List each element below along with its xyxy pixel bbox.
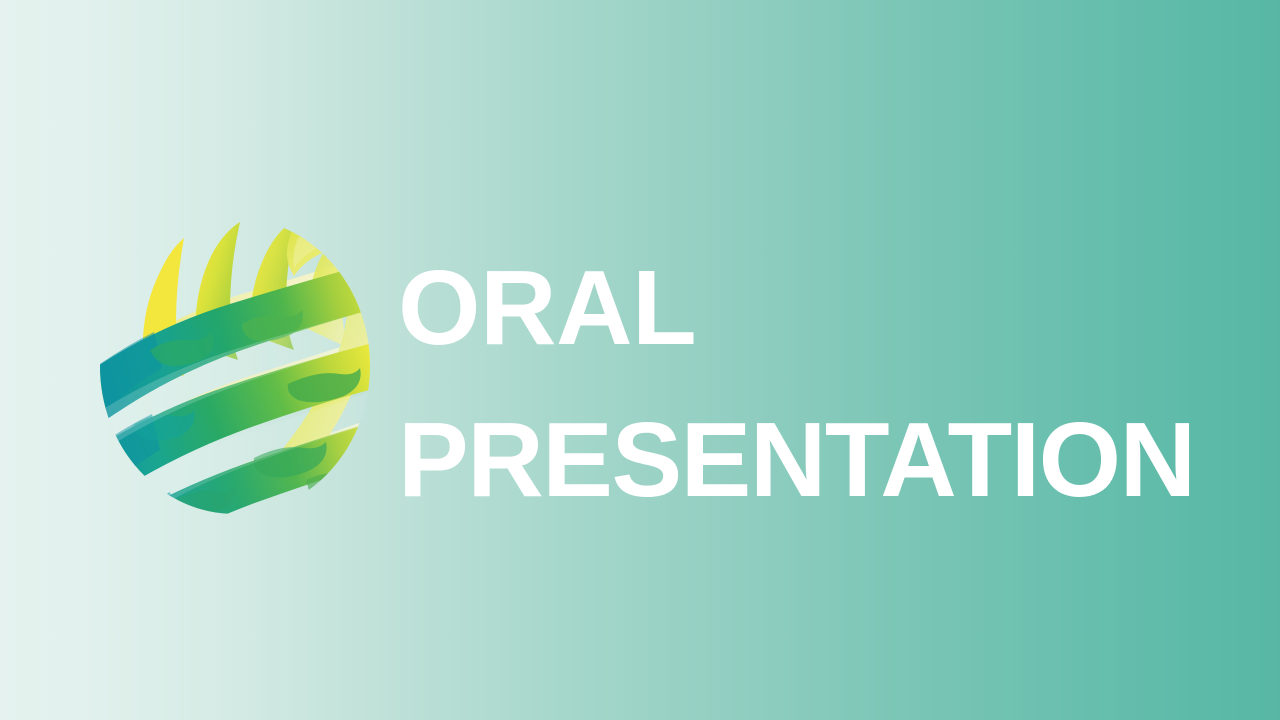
ribbon-globe-logo [92,198,384,523]
title-line-presentation: PRESENTATION [398,384,1238,536]
title-line-oral: ORAL [398,232,1238,384]
presentation-slide: ORAL PRESENTATION [0,0,1280,720]
slide-title-block: ORAL PRESENTATION [398,232,1238,536]
